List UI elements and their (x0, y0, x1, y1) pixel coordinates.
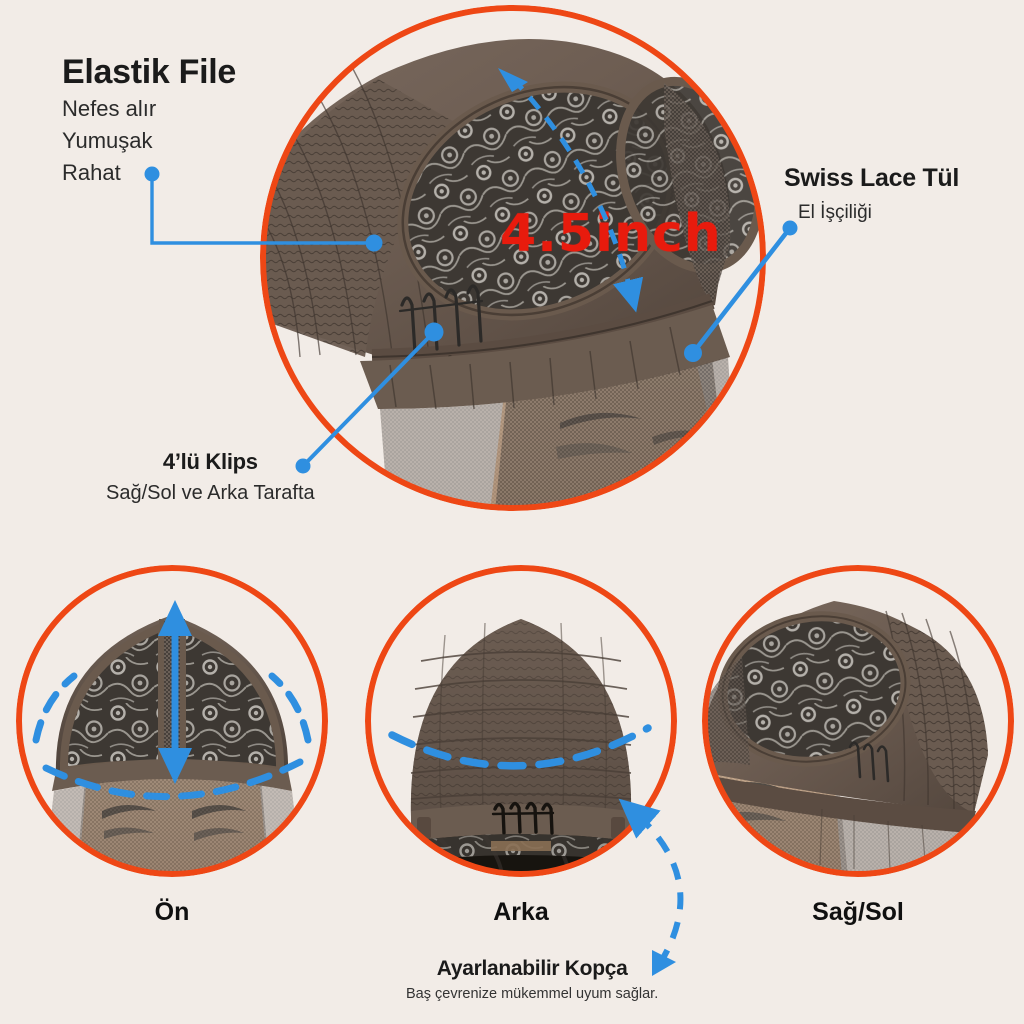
elastik-title: Elastik File (62, 52, 236, 92)
swiss-title: Swiss Lace Tül (784, 162, 959, 194)
caption-front: Ön (16, 898, 328, 927)
back-view-photo (365, 565, 677, 877)
elastik-line-2: Yumuşak (62, 126, 236, 156)
kopca-subtitle: Baş çevrenize mükemmel uyum sağlar. (406, 984, 658, 1004)
kopca-title: Ayarlanabilir Kopça (406, 955, 658, 982)
klips-title: 4’lü Klips (106, 448, 315, 476)
callout-kopca: Ayarlanabilir Kopça Baş çevrenize mükemm… (406, 955, 658, 1004)
wig-cap-illustration-front (16, 565, 328, 877)
infographic-canvas: 4.5inch (0, 0, 1024, 1024)
caption-back: Arka (365, 898, 677, 927)
front-view-photo (16, 565, 328, 877)
caption-side: Sağ/Sol (702, 898, 1014, 927)
callout-elastik: Elastik File Nefes alır Yumuşak Rahat (62, 52, 236, 188)
wig-cap-illustration-side (702, 565, 1014, 877)
swiss-subtitle: El İşçiliği (798, 200, 959, 226)
callout-klips: 4’lü Klips Sağ/Sol ve Arka Tarafta (106, 448, 315, 507)
side-view-photo (702, 565, 1014, 877)
wig-cap-illustration-back (365, 565, 677, 877)
measurement-label: 4.5inch (500, 204, 722, 264)
elastik-line-3: Rahat (62, 158, 236, 188)
callout-swiss: Swiss Lace Tül El İşçiliği (784, 162, 959, 226)
klips-subtitle: Sağ/Sol ve Arka Tarafta (106, 479, 315, 507)
elastik-line-1: Nefes alır (62, 94, 236, 124)
